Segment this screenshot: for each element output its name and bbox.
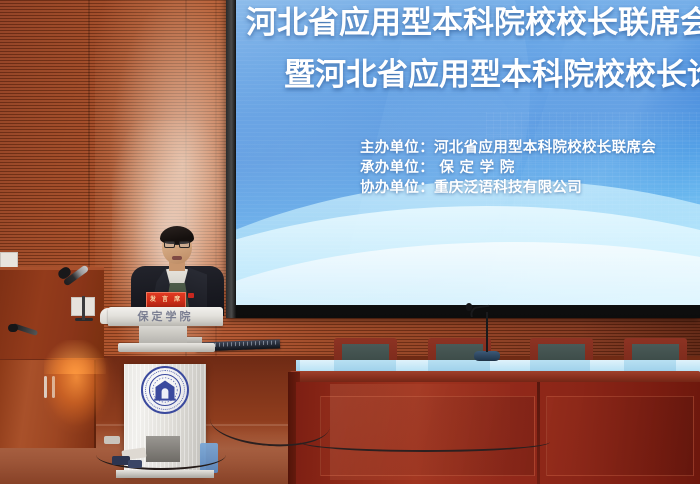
conference-photo-scene: 河北省应用型本科院校校长联席会2019年 暨河北省应用型本科院校校长论坛 主办单… [0,0,700,484]
podium-base [116,470,214,478]
led-screen: 河北省应用型本科院校校长联席会2019年 暨河北省应用型本科院校校长论坛 主办单… [236,0,700,305]
table-document [676,360,700,371]
table-joint-seam [537,382,540,484]
podium-neck [139,326,187,343]
table-microphone-neck [486,312,488,352]
glasses-lens-right [179,241,190,248]
flag-pin-icon [188,293,194,298]
floor-connector [104,436,120,444]
table-document [490,360,530,371]
glasses-bridge [175,244,179,245]
organizer-host: 主办单位：河北省应用型本科院校校长联席会 [360,138,656,158]
secondary-microphone-icon [8,324,18,332]
microphone-stand-pole [82,296,85,320]
floor-equipment-box [146,436,180,462]
speaker-mouth [172,256,182,260]
table-document [300,360,334,371]
table-document [396,360,428,371]
floor-connector [128,460,142,468]
glasses-lens-left [164,241,175,248]
table-microphone-base [474,351,500,361]
organizer-block: 主办单位：河北省应用型本科院校校长联席会 承办单位： 保 定 学 院 协办单位：… [360,138,656,198]
floor-cable [300,432,550,452]
podium-shelf [118,343,215,352]
slide-title-line-2: 暨河北省应用型本科院校校长论坛 [284,60,700,91]
table-panel-molding [546,396,694,476]
table-document [590,360,624,371]
organizer-undertaker: 承办单位： 保 定 学 院 [360,158,656,178]
organizer-coorganizer: 协办单位：重庆泛语科技有限公司 [360,178,656,198]
seal-outer-ring [145,370,185,410]
speaker-nameplate: 发 言 席 [146,292,186,308]
table-microphone-icon [466,303,472,311]
podium-calligraphy-label: 保定学院 [118,309,213,324]
led-screen-left-frame [226,0,236,318]
slide-title-line-1: 河北省应用型本科院校校长联席会2019年 [246,8,700,39]
